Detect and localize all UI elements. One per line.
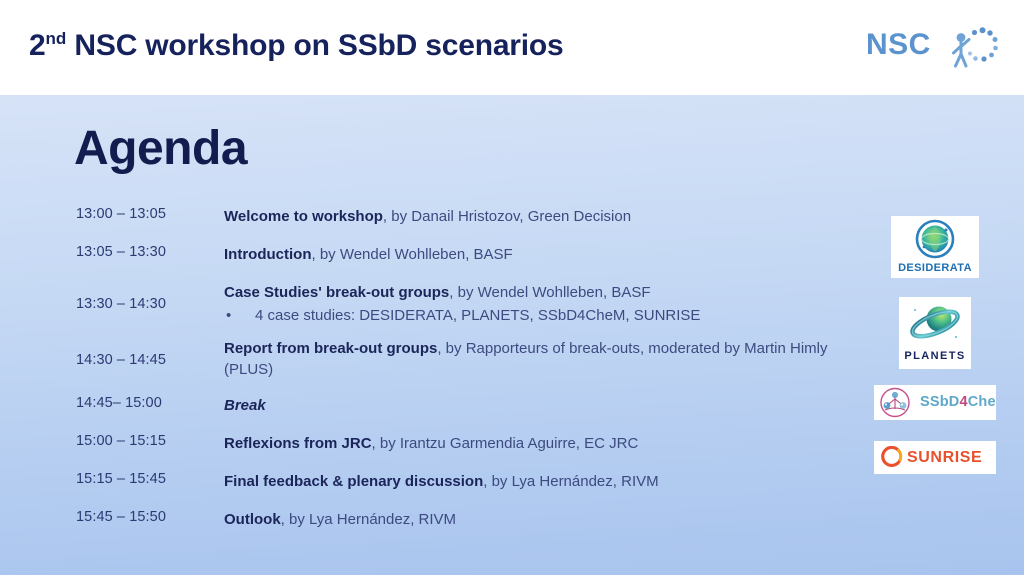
agenda-row-rest: , by Wendel Wohlleben, BASF bbox=[311, 246, 512, 263]
agenda-row-title: Introduction bbox=[224, 246, 311, 263]
project-logo-planets: PLANETS bbox=[899, 297, 971, 369]
agenda-row-title: Case Studies' break-out groups bbox=[224, 284, 449, 301]
ssbd4chem-molecule-circle-icon bbox=[879, 387, 911, 418]
agenda-row-rest: , by Lya Hernández, RIVM bbox=[483, 473, 658, 490]
agenda-row-description: Report from break-out groups, by Rapport… bbox=[224, 338, 854, 380]
ssbd4chem-caption-part3: CheM bbox=[968, 394, 996, 410]
slide-title-prefix: 2 bbox=[29, 29, 46, 62]
agenda-row-description: Final feedback & plenary discussion, by … bbox=[224, 471, 854, 492]
desiderata-globe-icon bbox=[913, 219, 957, 261]
agenda-row-title: Outlook bbox=[224, 511, 281, 528]
agenda-row-description: Case Studies' break-out groups, by Wende… bbox=[224, 282, 854, 326]
project-logo-desiderata: DESIDERATA bbox=[891, 216, 979, 278]
agenda-row-time: 15:15 – 15:45 bbox=[76, 471, 216, 487]
ssbd4chem-caption-part1: SSbD bbox=[920, 394, 959, 410]
bullet-icon: • bbox=[226, 305, 255, 326]
nsc-person-dots-icon bbox=[944, 24, 1002, 72]
agenda-row-time: 14:30 – 14:45 bbox=[76, 352, 216, 368]
nsc-brand-text: NSC bbox=[866, 28, 931, 62]
agenda-row-rest: , by Lya Hernández, RIVM bbox=[281, 511, 456, 528]
agenda-row-description: Reflexions from JRC, by Irantzu Garmendi… bbox=[224, 433, 854, 454]
agenda-row-description: Welcome to workshop, by Danail Hristozov… bbox=[224, 206, 854, 227]
agenda-row-title: Reflexions from JRC bbox=[224, 435, 372, 452]
agenda-row-title: Final feedback & plenary discussion bbox=[224, 473, 483, 490]
sunrise-caption: SUNRISE bbox=[907, 449, 982, 467]
agenda-row-description: Outlook, by Lya Hernández, RIVM bbox=[224, 509, 854, 530]
agenda-row-rest: , by Wendel Wohlleben, BASF bbox=[449, 284, 650, 301]
desiderata-caption: DESIDERATA bbox=[891, 262, 979, 274]
agenda-row-title: Break bbox=[224, 397, 266, 414]
project-logo-ssbd4chem: SSbD4CheM bbox=[874, 385, 996, 420]
ssbd4chem-caption: SSbD4CheM bbox=[920, 394, 996, 410]
agenda-row-time: 13:00 – 13:05 bbox=[76, 206, 216, 222]
ssbd4chem-caption-part2: 4 bbox=[959, 394, 967, 410]
planets-caption: PLANETS bbox=[899, 350, 971, 362]
agenda-row-description: Introduction, by Wendel Wohlleben, BASF bbox=[224, 244, 854, 265]
slide-title-rest: NSC workshop on SSbD scenarios bbox=[66, 29, 563, 62]
sunrise-arc-icon bbox=[880, 446, 904, 470]
slide-title: 2nd NSC workshop on SSbD scenarios bbox=[29, 29, 564, 63]
slide-canvas: 2nd NSC workshop on SSbD scenarios NSC A… bbox=[0, 0, 1024, 575]
agenda-row-rest: , by Danail Hristozov, Green Decision bbox=[383, 208, 631, 225]
page-title: Agenda bbox=[74, 121, 247, 176]
agenda-row-sub-item: •4 case studies: DESIDERATA, PLANETS, SS… bbox=[226, 305, 856, 326]
nsc-brand-logo: NSC bbox=[866, 24, 1006, 72]
agenda-row-title: Report from break-out groups bbox=[224, 340, 437, 357]
slide-title-superscript: nd bbox=[46, 29, 67, 48]
agenda-row-time: 13:05 – 13:30 bbox=[76, 244, 216, 260]
agenda-row-time: 15:00 – 15:15 bbox=[76, 433, 216, 449]
planets-ringed-planet-icon bbox=[906, 301, 964, 347]
agenda-row-title: Welcome to workshop bbox=[224, 208, 383, 225]
agenda-row-sub-text: 4 case studies: DESIDERATA, PLANETS, SSb… bbox=[255, 307, 700, 324]
project-logo-sunrise: SUNRISE bbox=[874, 441, 996, 474]
agenda-row-description: Break bbox=[224, 395, 854, 416]
agenda-row-time: 14:45– 15:00 bbox=[76, 395, 216, 411]
agenda-row-time: 15:45 – 15:50 bbox=[76, 509, 216, 525]
agenda-row-time: 13:30 – 14:30 bbox=[76, 296, 216, 312]
agenda-row-rest: , by Irantzu Garmendia Aguirre, EC JRC bbox=[372, 435, 639, 452]
